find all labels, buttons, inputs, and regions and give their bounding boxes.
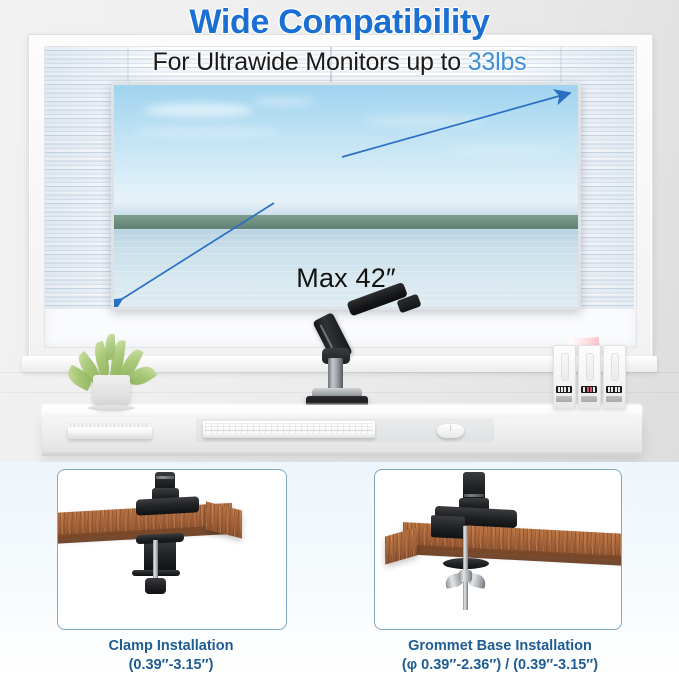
mouse-button-split (450, 425, 451, 431)
binder-label (581, 386, 597, 393)
binder-2 (578, 345, 601, 409)
binder-1 (553, 345, 576, 409)
grommet-installation-panel (374, 469, 622, 630)
binder-foot (556, 396, 572, 402)
plant-saucer (88, 405, 135, 411)
plant-pot (93, 375, 130, 408)
book-pages (70, 423, 150, 428)
grommet-caption-line2: (φ 0.39″-2.36″) / (0.39″-3.15″) (355, 656, 645, 675)
installation-section: Clamp Installation (0.39″-3.15″) Grommet… (0, 462, 679, 676)
keyboard (203, 421, 375, 438)
desk-slab-end-grommet (385, 527, 417, 564)
binder-slot (611, 353, 619, 381)
wing-nut-hub (459, 570, 472, 582)
clamp-caption: Clamp Installation (0.39″-3.15″) (35, 637, 307, 675)
clamp-knob (145, 578, 166, 594)
grommet-bolt-shaft (463, 526, 468, 610)
clamp-top-plate (136, 496, 199, 515)
mouse (437, 424, 464, 438)
binder-foot (606, 396, 622, 402)
binder-label (606, 386, 622, 393)
binder-slot (561, 353, 569, 381)
infographic-root: Max 42″ (0, 0, 679, 676)
binder-label (556, 386, 572, 393)
clamp-installation-panel (57, 469, 287, 630)
max-size-label: Max 42″ (114, 263, 578, 294)
arm-post-ring (156, 476, 174, 479)
clamp-caption-line2: (0.39″-3.15″) (35, 656, 307, 675)
desk-scene: Max 42″ (0, 0, 679, 462)
grommet-caption-line1: Grommet Base Installation (355, 637, 645, 656)
file-binders (553, 345, 625, 407)
grommet-caption: Grommet Base Installation (φ 0.39″-2.36″… (355, 637, 645, 675)
binder-foot (581, 396, 597, 402)
keyboard-keys (205, 423, 373, 434)
page-subtitle: For Ultrawide Monitors up to 33lbs (0, 48, 679, 77)
arm-post-ring-grommet (464, 494, 484, 497)
monitor-arm-post (328, 358, 343, 392)
clamp-screw-shaft (153, 540, 158, 582)
stacked-books (68, 427, 152, 439)
subtitle-weight-highlight: 33lbs (468, 48, 527, 76)
binder-3 (603, 345, 626, 409)
clamp-caption-line1: Clamp Installation (35, 637, 307, 656)
desk-bottom-edge (42, 452, 642, 456)
clamp-upper-jaw (136, 533, 184, 545)
page-title: Wide Compatibility (0, 3, 679, 42)
monitor-screen: Max 42″ (114, 85, 578, 307)
binder-slot (586, 353, 594, 381)
grommet-base-side (431, 515, 465, 539)
subtitle-prefix: For Ultrawide Monitors up to (153, 48, 468, 76)
